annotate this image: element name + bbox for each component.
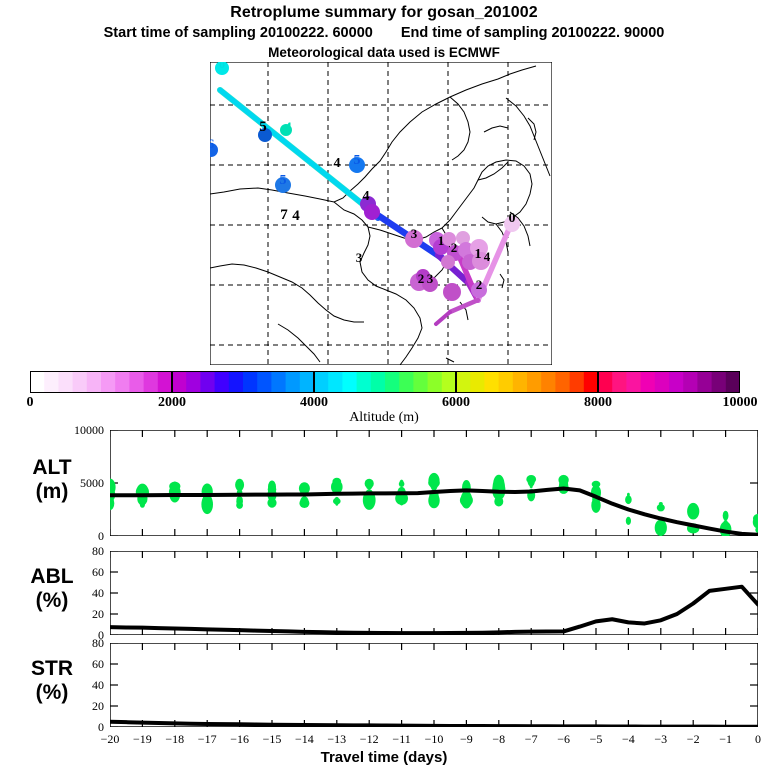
x-tick-label: 0 [738, 733, 768, 745]
alt-scatter-point [592, 481, 601, 488]
abl-yticklabels: 806040200 [60, 548, 108, 638]
y-tick-label: 0 [60, 722, 104, 732]
alt-scatter-point [463, 496, 469, 503]
sampling-times-row: Start time of sampling 20100222. 60000 E… [0, 25, 768, 41]
colorbar-band [499, 371, 514, 393]
colorbar-band [399, 371, 414, 393]
alt-scatter-point [494, 497, 503, 507]
day-label: 7 [280, 207, 288, 223]
colorbar-band [555, 371, 570, 393]
y-tick-label: 40 [60, 588, 104, 598]
y-tick-label: 10000 [60, 425, 104, 435]
colorbar-band [229, 371, 244, 393]
colorbar-band [527, 371, 542, 393]
colorbar-band [87, 371, 102, 393]
colorbar-band [712, 371, 727, 393]
alt-scatter-point [627, 493, 630, 497]
colorbar-band [257, 371, 272, 393]
colorbar-band [186, 371, 201, 393]
y-tick-label: 40 [60, 680, 104, 690]
colorbar-band [655, 371, 670, 393]
colorbar-band [129, 371, 144, 393]
colorbar-band [697, 371, 712, 393]
start-time-label: Start time of sampling 20100222. 60000 [104, 25, 373, 41]
colorbar-band [513, 371, 528, 393]
page-title: Retroplume summary for gosan_201002 [0, 4, 768, 22]
alt-ytick-0: 1000050000 [60, 425, 108, 540]
colorbar-band [58, 371, 73, 393]
x-axis-caption: Travel time (days) [0, 749, 768, 766]
y-tick-label: 20 [60, 701, 104, 711]
day-label: 2 [418, 271, 425, 286]
plume-marker [364, 204, 380, 220]
day-label: 5 [259, 119, 267, 135]
plume-marker [443, 283, 461, 301]
colorbar-caption: Altitude (m) [0, 410, 768, 426]
colorbar-tick: 6000 [416, 396, 496, 410]
day-label: 5 [354, 153, 361, 168]
colorbar-band [115, 371, 130, 393]
colorbar-band [413, 371, 428, 393]
y-tick-label: 80 [60, 546, 104, 556]
colorbar-band [342, 371, 357, 393]
day-label: 4 [484, 249, 491, 264]
day-label: 5 [280, 173, 287, 188]
alt-scatter-point [655, 520, 667, 537]
colorbar-band [314, 371, 329, 393]
colorbar-band [641, 371, 656, 393]
alt-panel [110, 430, 758, 536]
colorbar-band [484, 371, 499, 393]
day-label: 1 [475, 247, 482, 262]
colorbar-band [158, 371, 173, 393]
colorbar-band [271, 371, 286, 393]
colorbar-tick: 4000 [274, 396, 354, 410]
y-tick-label: 20 [60, 609, 104, 619]
alt-scatter-point [201, 495, 213, 514]
colorbar-tick: 2000 [132, 396, 212, 410]
alt-scatter-point [400, 481, 403, 485]
day-label: 3 [411, 226, 418, 241]
colorbar-band [371, 371, 386, 393]
str-yticklabels: 806040200 [60, 640, 108, 730]
day-label: 0 [219, 62, 225, 71]
day-label: 2 [476, 277, 483, 292]
retroplume-map: 06544557434323121420 [210, 62, 552, 365]
colorbar-band [44, 371, 59, 393]
colorbar-band [215, 371, 230, 393]
str-panel [110, 643, 758, 727]
abl-panel [110, 551, 758, 635]
day-label: 4 [363, 189, 370, 204]
colorbar-band [428, 371, 443, 393]
y-tick-label: 60 [60, 659, 104, 669]
alt-scatter-point [428, 473, 439, 489]
alt-scatter-point [367, 497, 372, 504]
colorbar-band [300, 371, 315, 393]
colorbar-band [243, 371, 258, 393]
altitude-colorbar [30, 371, 740, 393]
alt-scatter-point [268, 481, 276, 494]
day-label: 1 [438, 233, 445, 248]
alt-scatter-point [687, 503, 699, 520]
colorbar-band [598, 371, 613, 393]
colorbar-tick: 10000 [700, 396, 768, 410]
x-axis-ticklabels: −20−19−18−17−16−15−14−13−12−11−10−9−8−7−… [0, 733, 768, 749]
end-time-label: End time of sampling 20100222. 90000 [401, 25, 665, 41]
colorbar-band [101, 371, 116, 393]
colorbar-band [612, 371, 627, 393]
colorbar-band [30, 371, 45, 393]
alt-scatter-point [530, 485, 533, 488]
day-label: 4 [292, 208, 300, 224]
day-label: 2 [451, 240, 458, 255]
colorbar-band [570, 371, 585, 393]
colorbar-tick: 0 [0, 396, 70, 410]
day-label: 4 [334, 156, 341, 171]
alt-scatter-point [657, 504, 665, 511]
alt-scatter-point [236, 497, 243, 505]
alt-scatter-point [238, 489, 242, 493]
colorbar-band [470, 371, 485, 393]
y-tick-label: 80 [60, 638, 104, 648]
alt-scatter-point [626, 517, 631, 525]
day-label: 4 [284, 120, 292, 136]
colorbar-band [144, 371, 159, 393]
alt-scatter-point [303, 497, 306, 502]
colorbar-band [683, 371, 698, 393]
colorbar-band [456, 371, 471, 393]
plume-marker [441, 255, 455, 269]
colorbar-band [541, 371, 556, 393]
colorbar-band [385, 371, 400, 393]
y-tick-label: 60 [60, 567, 104, 577]
colorbar-band [626, 371, 641, 393]
colorbar-band [172, 371, 187, 393]
alt-scatter-point [267, 498, 276, 508]
alt-scatter-point [430, 494, 437, 506]
colorbar-band [73, 371, 88, 393]
met-data-label: Meteorological data used is ECMWF [0, 45, 768, 60]
colorbar-band [726, 371, 740, 393]
colorbar-band [669, 371, 684, 393]
alt-scatter-point [367, 484, 371, 489]
colorbar-band [328, 371, 343, 393]
y-tick-label: 0 [60, 531, 104, 541]
colorbar-band [584, 371, 599, 393]
alt-scatter-point [140, 499, 146, 505]
colorbar-band [357, 371, 372, 393]
y-tick-label: 5000 [60, 478, 104, 488]
day-label: 6 [210, 136, 215, 151]
alt-scatter-point [627, 499, 630, 504]
alt-scatter-point [173, 482, 178, 489]
colorbar-band [442, 371, 457, 393]
colorbar-tick: 8000 [558, 396, 638, 410]
alt-scatter-point [335, 501, 338, 506]
day-label: 3 [427, 271, 434, 286]
day-label: 3 [356, 250, 363, 265]
colorbar-band [200, 371, 215, 393]
alt-scatter-point [723, 511, 729, 521]
day-label: 0 [509, 211, 516, 226]
colorbar-band [286, 371, 301, 393]
